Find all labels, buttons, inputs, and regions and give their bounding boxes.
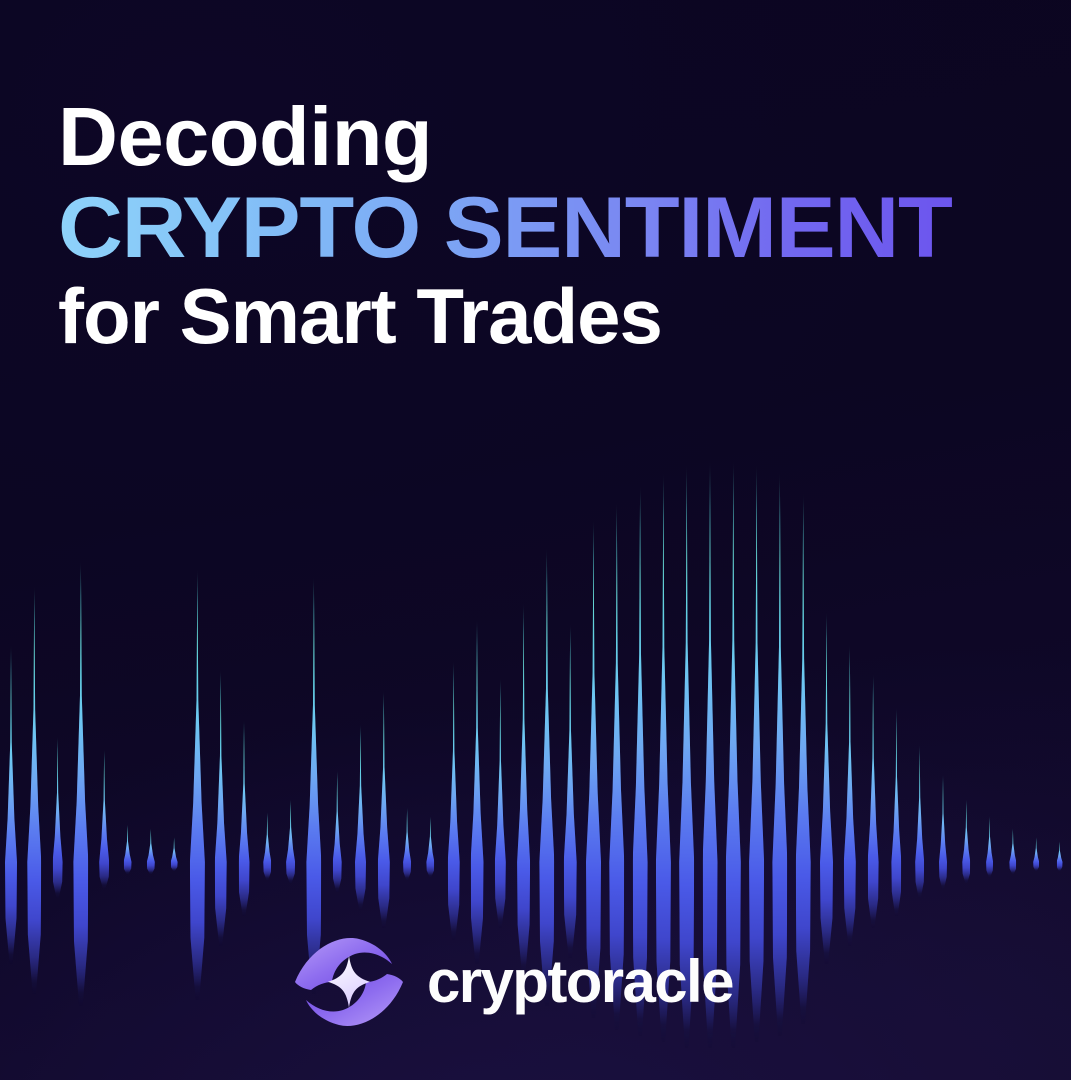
eye-sparkle-logo-icon <box>293 930 405 1034</box>
waveform-bar <box>495 677 506 928</box>
waveform-bar <box>772 471 787 1036</box>
waveform-bar <box>355 723 366 910</box>
waveform-bar <box>263 812 271 880</box>
waveform-bar <box>939 774 947 889</box>
waveform-bar <box>5 644 17 964</box>
waveform-bar <box>190 568 205 1000</box>
waveform-bar <box>796 492 811 1024</box>
waveform-bar <box>147 828 155 874</box>
waveform-bar <box>1057 841 1063 871</box>
headline-line-3: for Smart Trades <box>58 277 1028 355</box>
waveform-bar <box>820 610 833 964</box>
waveform-bar <box>891 707 901 916</box>
waveform-bar <box>1033 837 1039 871</box>
waveform-bar <box>426 816 434 877</box>
headline-block: Decoding CRYPTO SENTIMENT for Smart Trad… <box>58 96 1028 355</box>
waveform-bar <box>124 824 132 874</box>
waveform-bar <box>333 770 342 892</box>
waveform-bar <box>27 585 41 994</box>
waveform-bar <box>986 816 993 877</box>
waveform-bar <box>564 623 577 958</box>
brand-lockup[interactable]: cryptoracle <box>293 930 733 1034</box>
waveform-bar <box>378 690 390 928</box>
waveform-bar <box>868 673 879 928</box>
poster-canvas: Decoding CRYPTO SENTIMENT for Smart Trad… <box>0 0 1071 1080</box>
waveform-bar <box>99 749 109 889</box>
waveform-bar <box>844 644 856 946</box>
headline-line-1: Decoding <box>58 96 1028 177</box>
waveform-bar <box>1009 828 1016 874</box>
waveform-bar <box>286 799 295 883</box>
waveform-bar <box>239 719 250 916</box>
waveform-bar <box>171 837 178 871</box>
waveform-bar <box>915 744 924 898</box>
waveform-bar <box>403 807 411 880</box>
brand-wordmark: cryptoracle <box>427 952 733 1012</box>
waveform-bar <box>215 669 227 946</box>
headline-line-2-gradient: CRYPTO SENTIMENT <box>58 185 1071 271</box>
waveform-bar <box>517 602 530 976</box>
waveform-bar <box>73 560 88 1006</box>
waveform-bar <box>53 736 63 898</box>
waveform-bar <box>448 660 460 940</box>
waveform-bar <box>962 799 970 883</box>
waveform-bar <box>749 463 764 1042</box>
waveform-bar <box>471 618 484 964</box>
